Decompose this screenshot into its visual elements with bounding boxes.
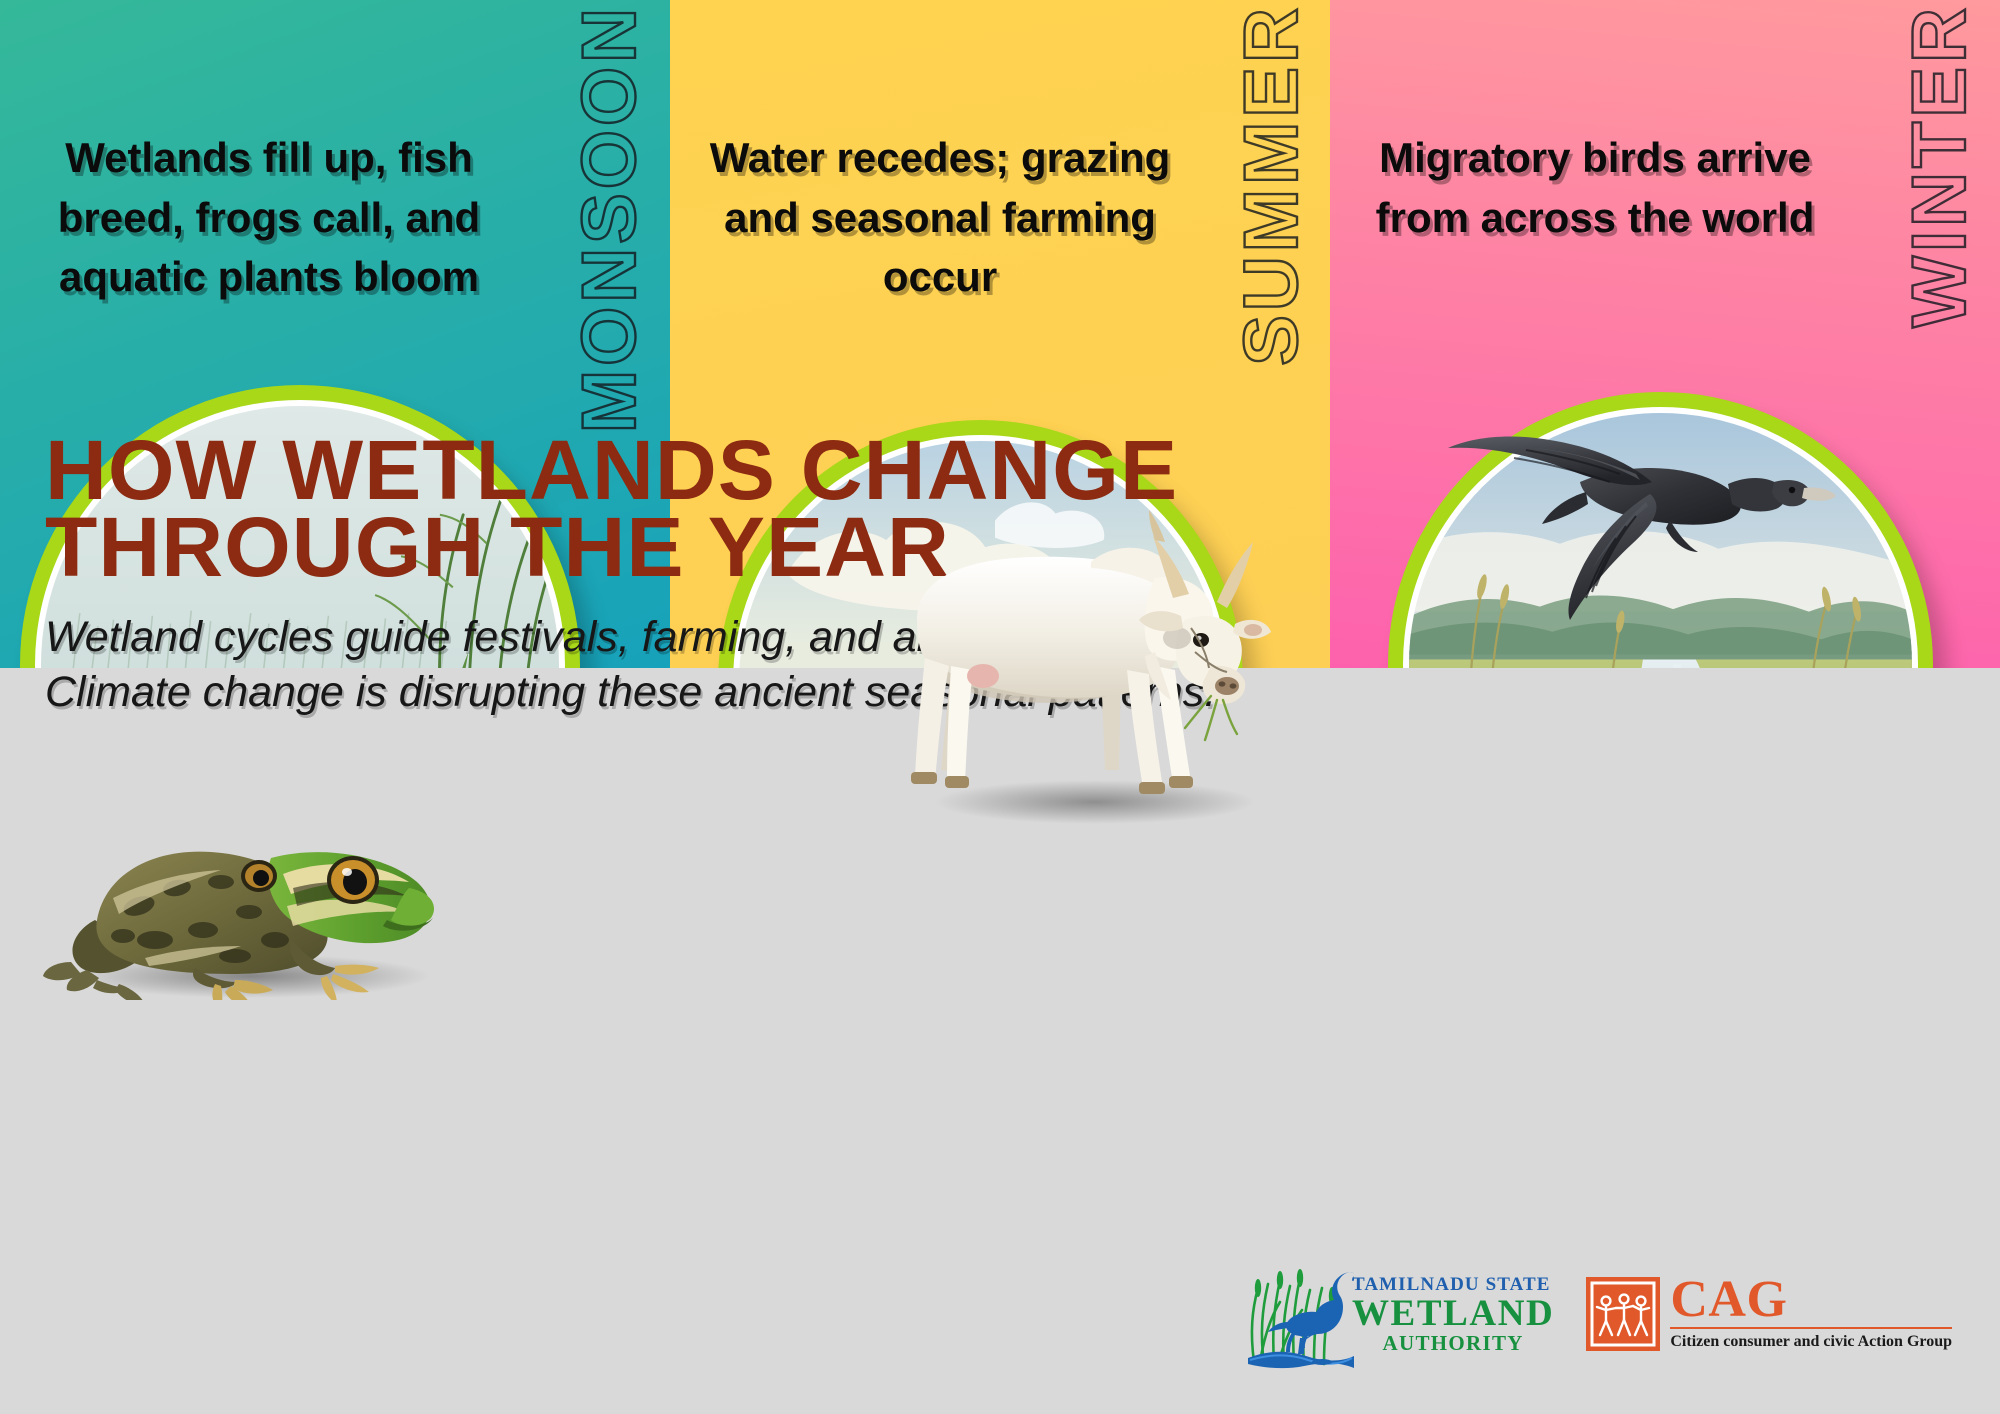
page-subtitle: Wetland cycles guide festivals, farming,… (45, 610, 1231, 720)
logo-wordmark-cag: CAG Citizen consumer and civic Action Gr… (1670, 1277, 1952, 1352)
logo-wordmark-tnswa: TAMILNADU STATE WETLAND AUTHORITY (1352, 1275, 1554, 1354)
page-title: HOW WETLANDS CHANGE THROUGH THE YEAR (45, 432, 1178, 587)
season-label-monsoon: MONSOON (572, 4, 648, 433)
logo-line-tamilnadu-state: TAMILNADU STATE (1352, 1275, 1554, 1294)
logo-tamilnadu-state-wetland-authority[interactable]: TAMILNADU STATE WETLAND AUTHORITY (1244, 1258, 1554, 1370)
logo-cag[interactable]: CAG Citizen consumer and civic Action Gr… (1586, 1277, 1952, 1352)
logo-divider (1670, 1327, 1952, 1329)
poster-canvas: MONSOON SUMMER WINTER Wetlands fill up, … (0, 0, 2000, 1414)
season-copy-winter: Migratory birds arrive from across the w… (1370, 128, 1820, 247)
season-label-winter: WINTER (1902, 4, 1978, 328)
logo-line-authority: AUTHORITY (1352, 1333, 1554, 1354)
season-label-summer: SUMMER (1234, 4, 1310, 366)
logo-line-wetland: WETLAND (1352, 1295, 1554, 1332)
heron-reeds-icon (1244, 1258, 1354, 1370)
logo-row: TAMILNADU STATE WETLAND AUTHORITY (1244, 1258, 1952, 1370)
three-figures-icon (1586, 1277, 1660, 1351)
season-copy-monsoon: Wetlands fill up, fish breed, frogs call… (34, 128, 504, 307)
season-copy-summer: Water recedes; grazing and seasonal farm… (700, 128, 1180, 307)
logo-acronym-cag: CAG (1670, 1277, 1952, 1324)
logo-tagline-cag: Citizen consumer and civic Action Group (1670, 1333, 1952, 1351)
